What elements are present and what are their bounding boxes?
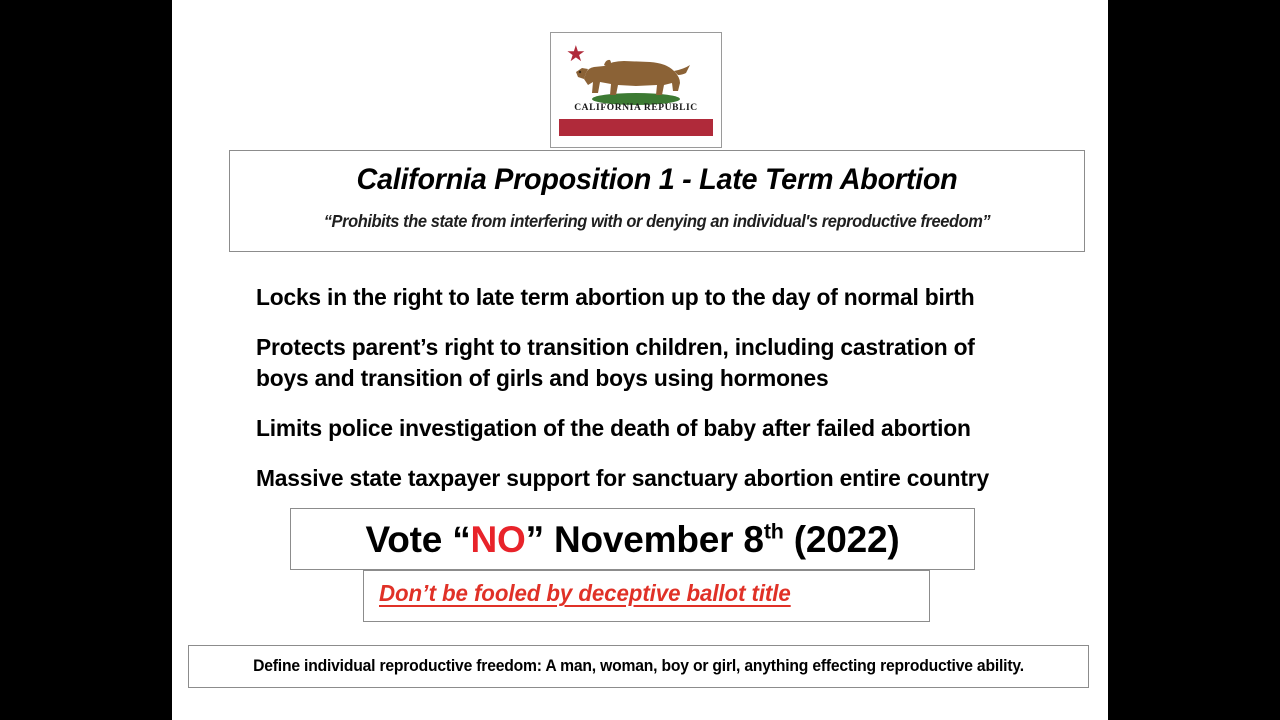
bullet-item: Limits police investigation of the death… [256, 413, 1022, 444]
deceptive-warning-text: Don’t be fooled by deceptive ballot titl… [379, 580, 791, 607]
california-flag-image: ★ CALIFORNIA REPUBLIC [550, 32, 722, 148]
letterbox-right [1108, 0, 1280, 720]
letterbox-left [0, 0, 172, 720]
bullet-item: Locks in the right to late term abortion… [256, 282, 1022, 313]
page-title: California Proposition 1 - Late Term Abo… [247, 163, 1067, 197]
vote-year: (2022) [784, 519, 900, 560]
page-subtitle: “Prohibits the state from interfering wi… [256, 211, 1059, 232]
slide-root: ★ CALIFORNIA REPUBLIC California Proposi… [0, 0, 1280, 720]
flag-republic-label: CALIFORNIA REPUBLIC [556, 103, 716, 113]
vote-ordinal-suffix: th [764, 520, 784, 544]
title-box: California Proposition 1 - Late Term Abo… [229, 150, 1085, 252]
flag-graphic: ★ CALIFORNIA REPUBLIC [556, 37, 716, 147]
slide-canvas: ★ CALIFORNIA REPUBLIC California Proposi… [172, 0, 1108, 720]
vote-middle: ” November 8 [526, 519, 764, 560]
vote-callout-box: Vote “NO” November 8th (2022) [290, 508, 975, 570]
bullet-item: Protects parent’s right to transition ch… [256, 332, 1022, 394]
vote-prefix: Vote “ [365, 519, 470, 560]
vote-callout-text: Vote “NO” November 8th (2022) [291, 519, 974, 561]
bullet-list: Locks in the right to late term abortion… [256, 282, 1046, 494]
definition-text: Define individual reproductive freedom: … [211, 657, 1065, 676]
vote-no-word: NO [471, 519, 526, 560]
definition-box: Define individual reproductive freedom: … [188, 645, 1089, 688]
deceptive-warning-box: Don’t be fooled by deceptive ballot titl… [363, 570, 930, 622]
bullet-item: Massive state taxpayer support for sanct… [256, 463, 1022, 494]
flag-red-stripe [559, 119, 713, 136]
grizzly-bear-icon [574, 51, 696, 105]
